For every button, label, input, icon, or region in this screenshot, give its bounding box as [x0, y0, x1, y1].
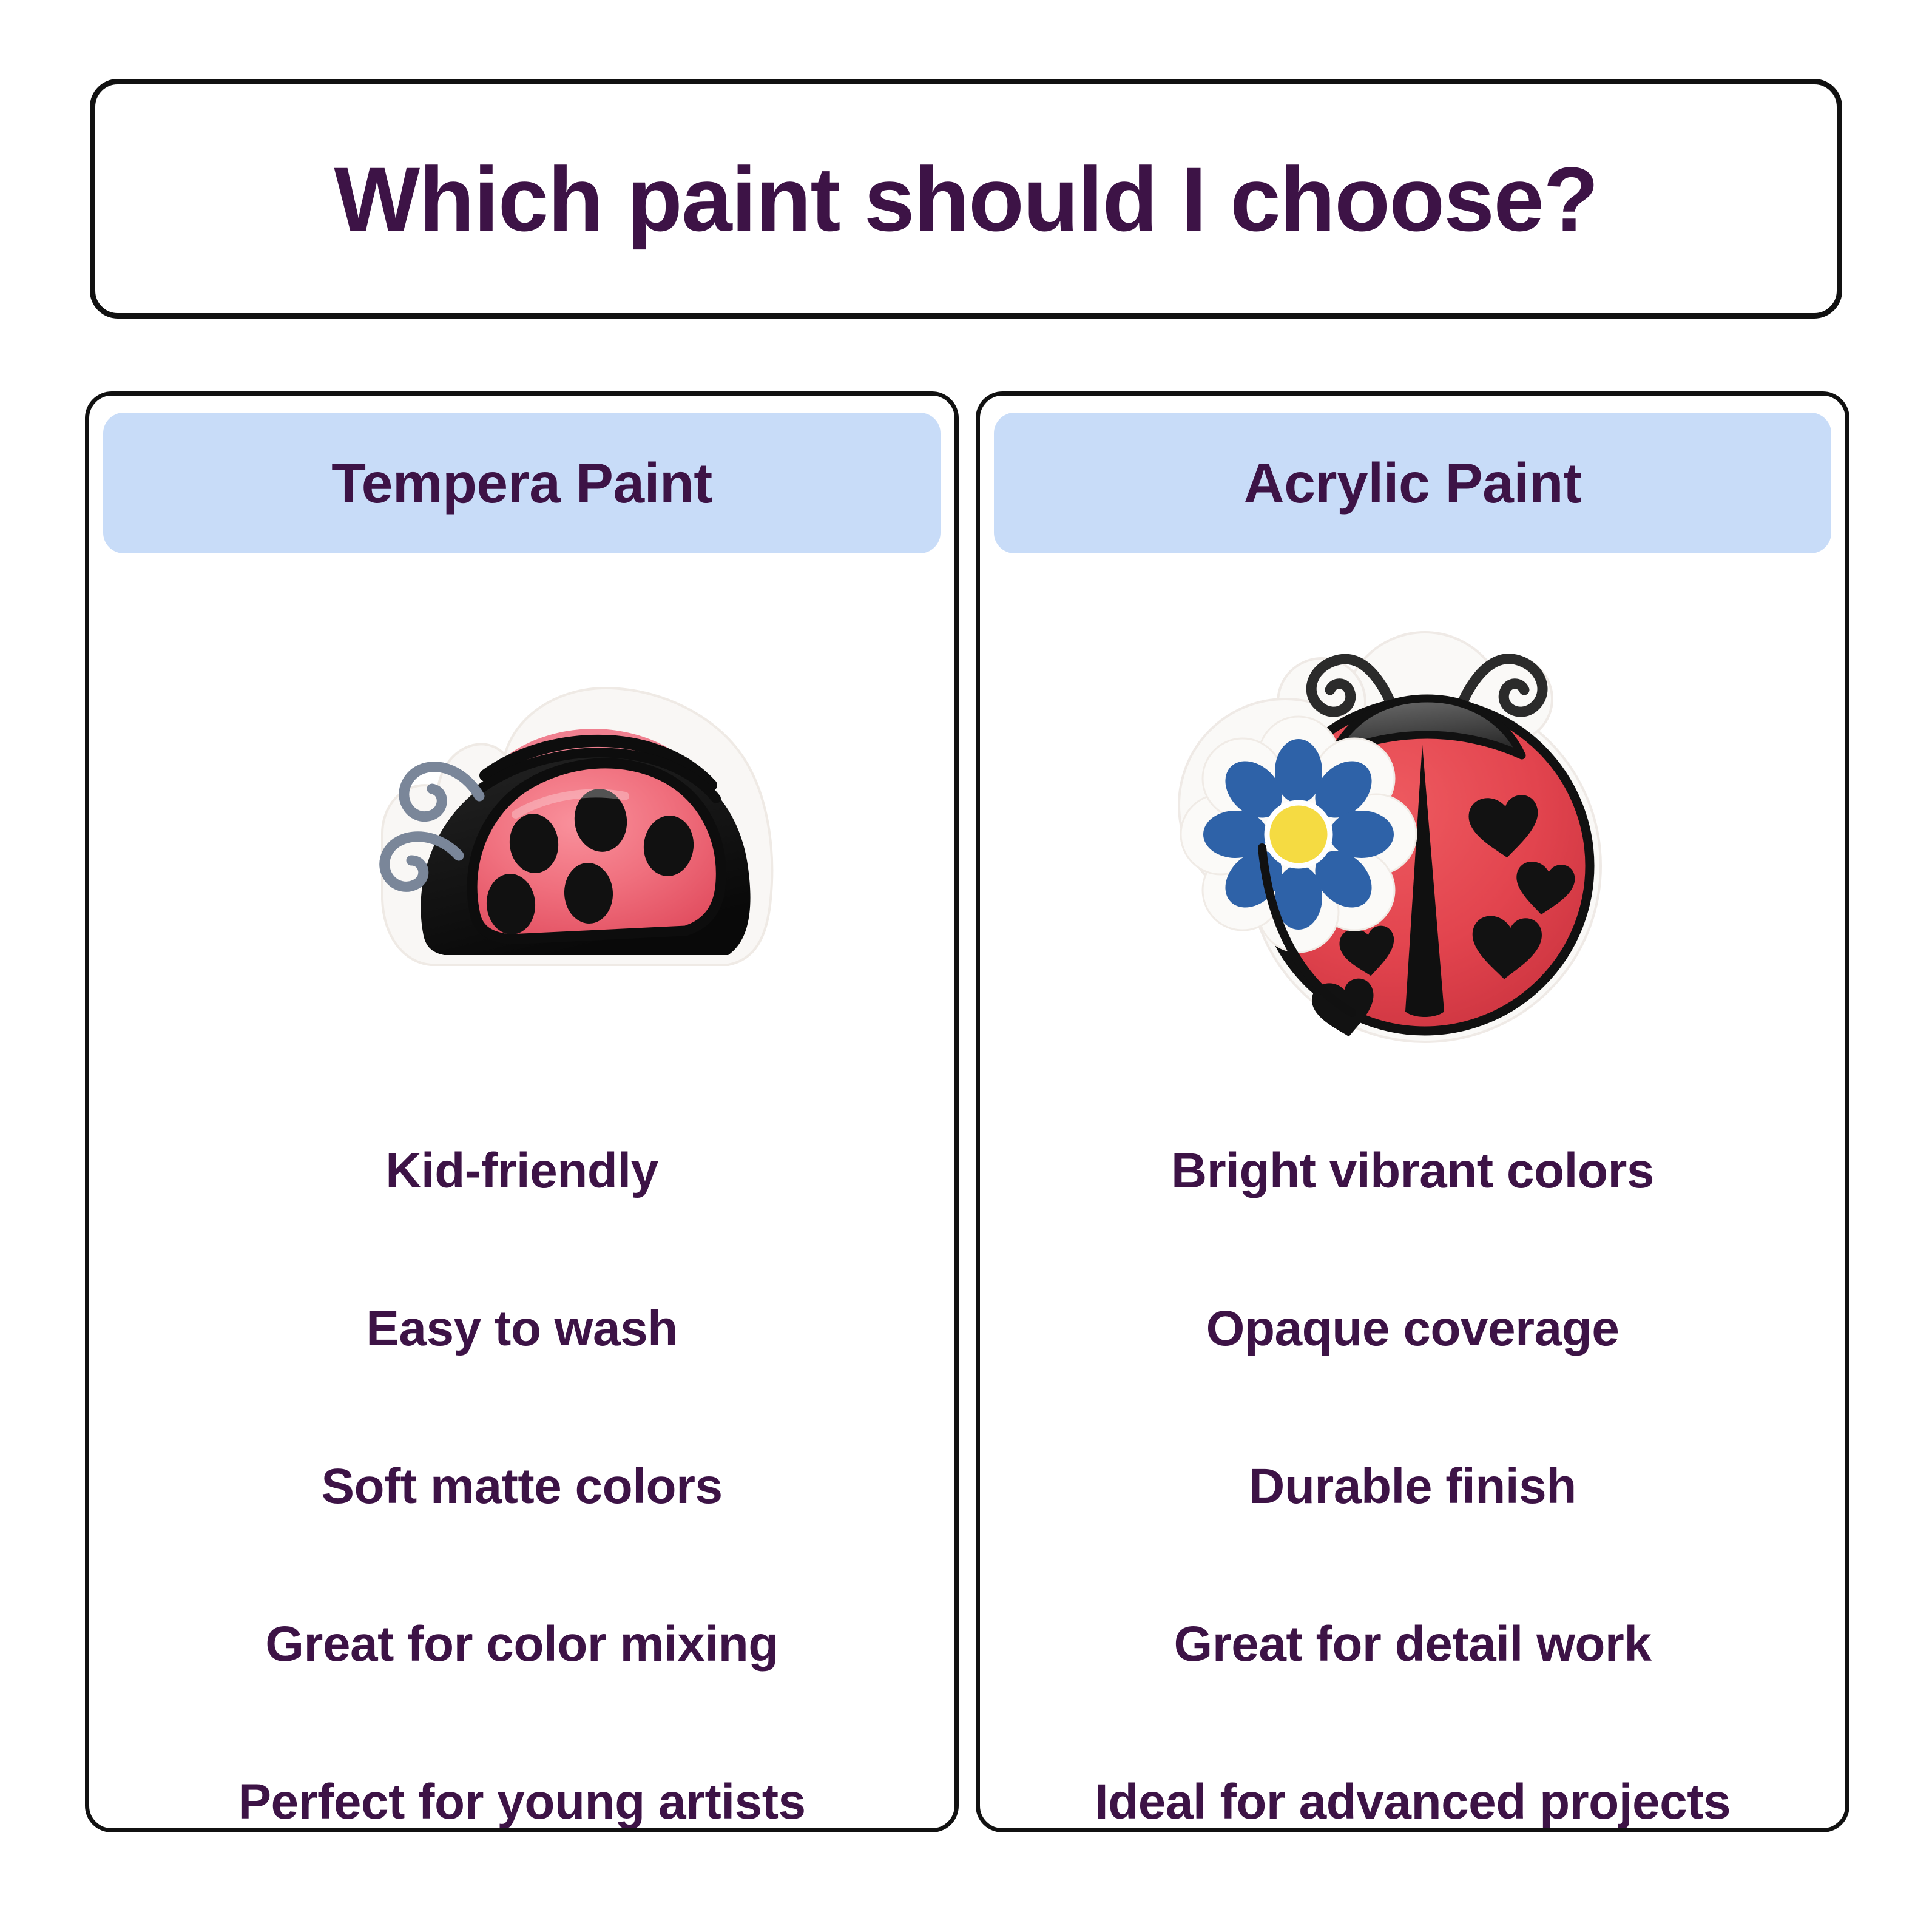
feature-item: Kid-friendly: [385, 1092, 658, 1250]
card-header-tempera: Tempera Paint: [103, 413, 941, 553]
feature-item: Soft matte colors: [321, 1408, 722, 1566]
card-title-tempera: Tempera Paint: [331, 455, 712, 512]
title-banner: Which paint should I choose?: [90, 79, 1842, 319]
feature-item: Great for color mixing: [265, 1566, 779, 1723]
feature-item: Ideal for advanced projects: [1095, 1723, 1731, 1832]
card-header-acrylic: Acrylic Paint: [994, 413, 1831, 553]
feature-item: Easy to wash: [366, 1250, 678, 1408]
comparison-infographic: Which paint should I choose? Tempera Pai…: [0, 0, 1932, 1932]
feature-item: Opaque coverage: [1206, 1250, 1620, 1408]
tempera-ladybug-icon: [231, 596, 813, 1033]
feature-item: Durable finish: [1249, 1408, 1576, 1566]
acrylic-ladybug-icon: [1170, 562, 1655, 1066]
card-title-acrylic: Acrylic Paint: [1244, 455, 1582, 512]
card-tempera[interactable]: Tempera Paint: [85, 391, 959, 1832]
comparison-cards: Tempera Paint: [85, 391, 1849, 1832]
card-acrylic[interactable]: Acrylic Paint: [976, 391, 1849, 1832]
feature-list-acrylic: Bright vibrant colors Opaque coverage Du…: [980, 1075, 1845, 1832]
product-image-acrylic: [980, 553, 1845, 1075]
product-image-tempera: [89, 553, 954, 1075]
feature-item: Great for detail work: [1174, 1566, 1652, 1723]
page-title: Which paint should I choose?: [334, 154, 1598, 245]
feature-list-tempera: Kid-friendly Easy to wash Soft matte col…: [89, 1075, 954, 1832]
feature-item: Perfect for young artists: [238, 1723, 805, 1832]
feature-item: Bright vibrant colors: [1171, 1092, 1654, 1250]
